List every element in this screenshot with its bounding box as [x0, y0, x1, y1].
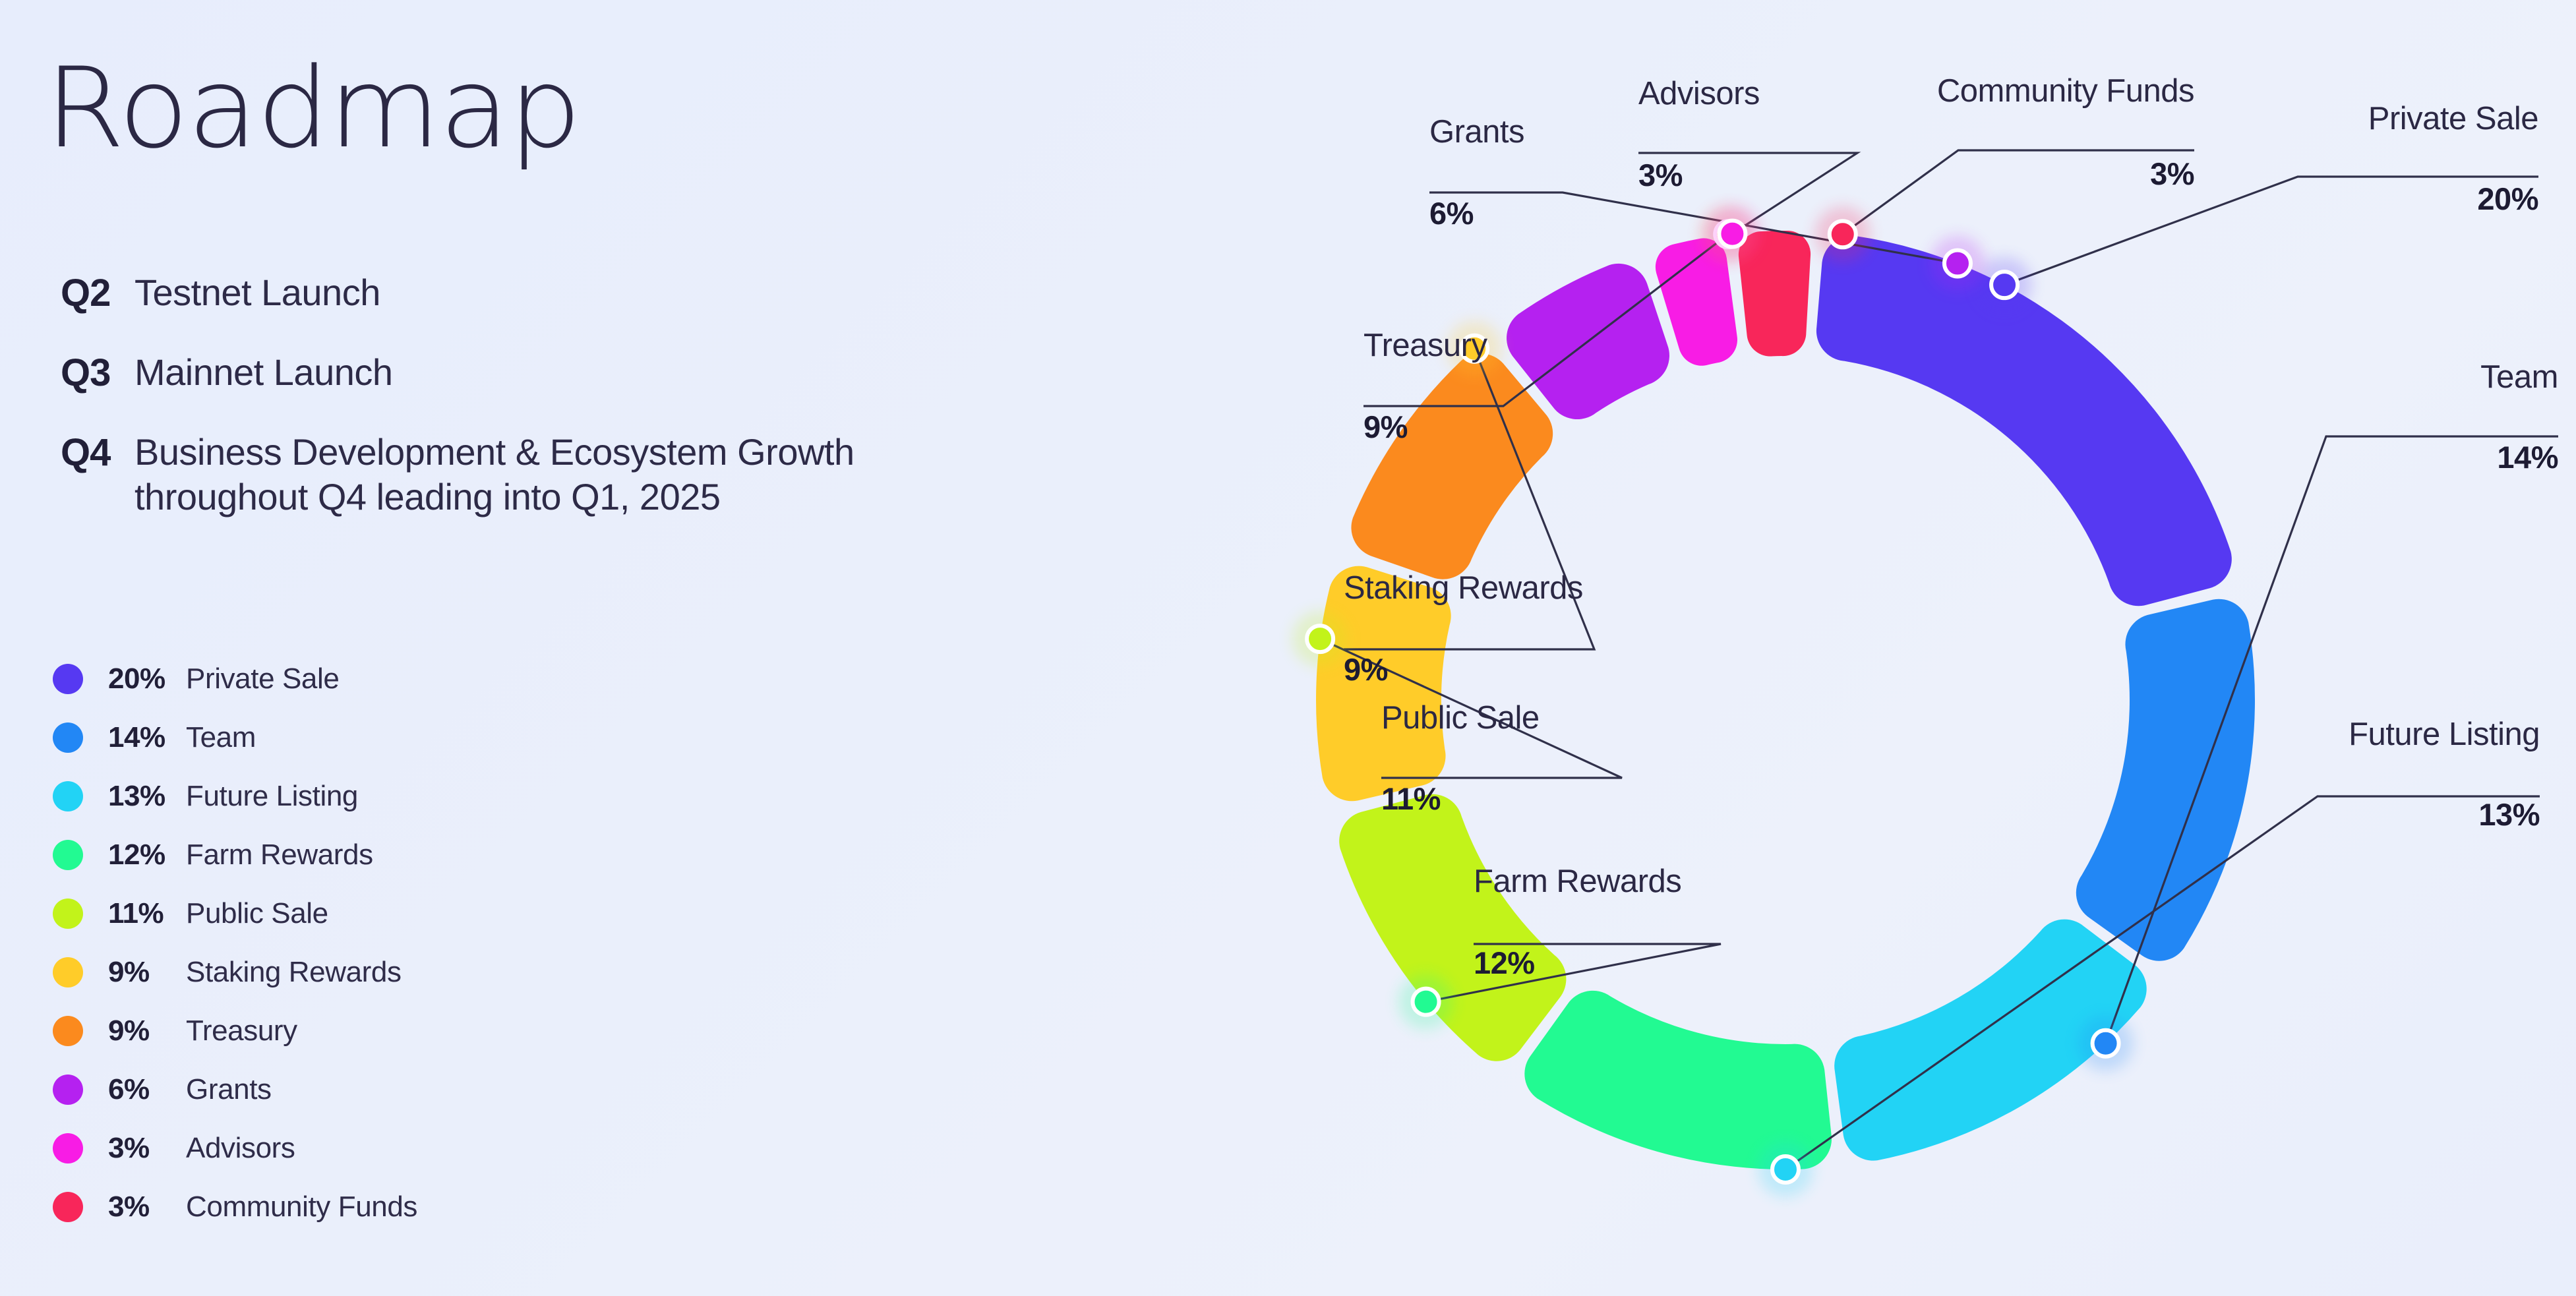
legend-color-swatch — [53, 1016, 83, 1046]
donut-chart: Private Sale20%Team14%Future Listing13%F… — [1042, 0, 2576, 1296]
legend-percent: 6% — [108, 1073, 186, 1106]
legend-percent: 9% — [108, 1015, 186, 1047]
slice-marker[interactable] — [2093, 1030, 2119, 1057]
legend-item: 6%Grants — [53, 1060, 417, 1119]
legend-color-swatch — [53, 781, 83, 811]
callout-label: Advisors — [1638, 76, 1760, 111]
donut-chart-svg: Private Sale20%Team14%Future Listing13%F… — [1042, 0, 2576, 1296]
legend-percent: 11% — [108, 897, 186, 930]
callout-percent: 6% — [1429, 196, 1474, 231]
callout-label: Team — [2480, 359, 2558, 395]
callout-label: Public Sale — [1381, 700, 1540, 736]
legend-item: 13%Future Listing — [53, 767, 417, 825]
infographic-canvas: Roadmap Q2 Testnet Launch Q3 Mainnet Lau… — [0, 0, 2576, 1296]
callout-label: Community Funds — [1937, 73, 2194, 109]
legend-color-swatch — [53, 664, 83, 694]
callout-label: Grants — [1429, 114, 1524, 150]
slice-marker[interactable] — [1991, 272, 2018, 298]
callout-percent: 9% — [1363, 409, 1408, 444]
legend-percent: 14% — [108, 721, 186, 754]
slice-marker[interactable] — [1307, 626, 1333, 652]
legend-label: Future Listing — [186, 780, 358, 813]
callout-label: Staking Rewards — [1344, 570, 1583, 606]
callout-label: Future Listing — [2349, 717, 2540, 752]
legend-color-swatch — [53, 722, 83, 753]
chart-legend: 20%Private Sale14%Team13%Future Listing1… — [53, 649, 417, 1236]
legend-item: 9%Staking Rewards — [53, 943, 417, 1001]
legend-percent: 3% — [108, 1132, 186, 1165]
legend-color-swatch — [53, 840, 83, 870]
legend-color-swatch — [53, 957, 83, 987]
roadmap-item-q2: Q2 Testnet Launch — [61, 270, 1050, 317]
roadmap-text: Testnet Launch — [135, 270, 380, 315]
legend-label: Public Sale — [186, 897, 328, 930]
legend-color-swatch — [53, 898, 83, 929]
donut-slice-treasury[interactable] — [1351, 353, 1553, 579]
callout-percent: 13% — [2478, 797, 2540, 832]
legend-item: 3%Advisors — [53, 1119, 417, 1177]
legend-percent: 13% — [108, 780, 186, 813]
slice-marker[interactable] — [1772, 1156, 1799, 1183]
roadmap-quarter: Q3 — [61, 350, 135, 397]
legend-label: Staking Rewards — [186, 956, 402, 989]
legend-label: Farm Rewards — [186, 839, 373, 871]
legend-percent: 3% — [108, 1191, 186, 1223]
slice-labels: Private Sale20%Team14%Future Listing13%F… — [1344, 73, 2558, 980]
callout-percent: 9% — [1344, 652, 1388, 687]
roadmap-text: Business Development & Ecosystem Growth … — [135, 430, 854, 520]
legend-item: 3%Community Funds — [53, 1177, 417, 1236]
legend-label: Advisors — [186, 1132, 295, 1165]
legend-item: 14%Team — [53, 708, 417, 767]
page-title: Roadmap — [45, 53, 580, 163]
legend-label: Treasury — [186, 1015, 297, 1047]
legend-item: 12%Farm Rewards — [53, 825, 417, 884]
roadmap-quarter: Q2 — [61, 270, 135, 317]
slice-marker[interactable] — [1944, 250, 1971, 277]
slice-marker[interactable] — [1830, 221, 1856, 247]
slice-marker[interactable] — [1719, 221, 1745, 247]
callout-percent: 3% — [2150, 156, 2194, 191]
legend-color-swatch — [53, 1075, 83, 1105]
legend-percent: 12% — [108, 839, 186, 871]
roadmap-quarter: Q4 — [61, 430, 135, 477]
callout-percent: 3% — [1638, 158, 1683, 192]
roadmap-item-q4: Q4 Business Development & Ecosystem Grow… — [61, 430, 1050, 520]
leader-line — [1843, 150, 2194, 234]
legend-label: Grants — [186, 1073, 272, 1106]
callout-percent: 11% — [1381, 781, 1441, 816]
left-panel: Roadmap Q2 Testnet Launch Q3 Mainnet Lau… — [0, 0, 1134, 1296]
legend-item: 20%Private Sale — [53, 649, 417, 708]
legend-color-swatch — [53, 1192, 83, 1222]
roadmap-list: Q2 Testnet Launch Q3 Mainnet Launch Q4 B… — [61, 270, 1050, 552]
legend-percent: 20% — [108, 663, 186, 695]
legend-label: Private Sale — [186, 663, 339, 695]
roadmap-text: Mainnet Launch — [135, 350, 393, 395]
donut-slice-team[interactable] — [2076, 599, 2255, 961]
legend-color-swatch — [53, 1133, 83, 1163]
donut-slice-public-sale[interactable] — [1339, 794, 1566, 1061]
callout-label: Farm Rewards — [1474, 864, 1681, 899]
callout-label: Treasury — [1363, 328, 1488, 363]
legend-label: Community Funds — [186, 1191, 417, 1223]
roadmap-item-q3: Q3 Mainnet Launch — [61, 350, 1050, 397]
callout-percent: 14% — [2497, 440, 2558, 475]
slice-marker[interactable] — [1413, 989, 1439, 1015]
legend-percent: 9% — [108, 956, 186, 989]
callout-label: Private Sale — [2368, 101, 2538, 136]
legend-item: 11%Public Sale — [53, 884, 417, 943]
legend-label: Team — [186, 721, 256, 754]
callout-percent: 20% — [2477, 181, 2538, 216]
legend-item: 9%Treasury — [53, 1001, 417, 1060]
leader-line — [2004, 177, 2538, 285]
callout-percent: 12% — [1474, 945, 1535, 980]
